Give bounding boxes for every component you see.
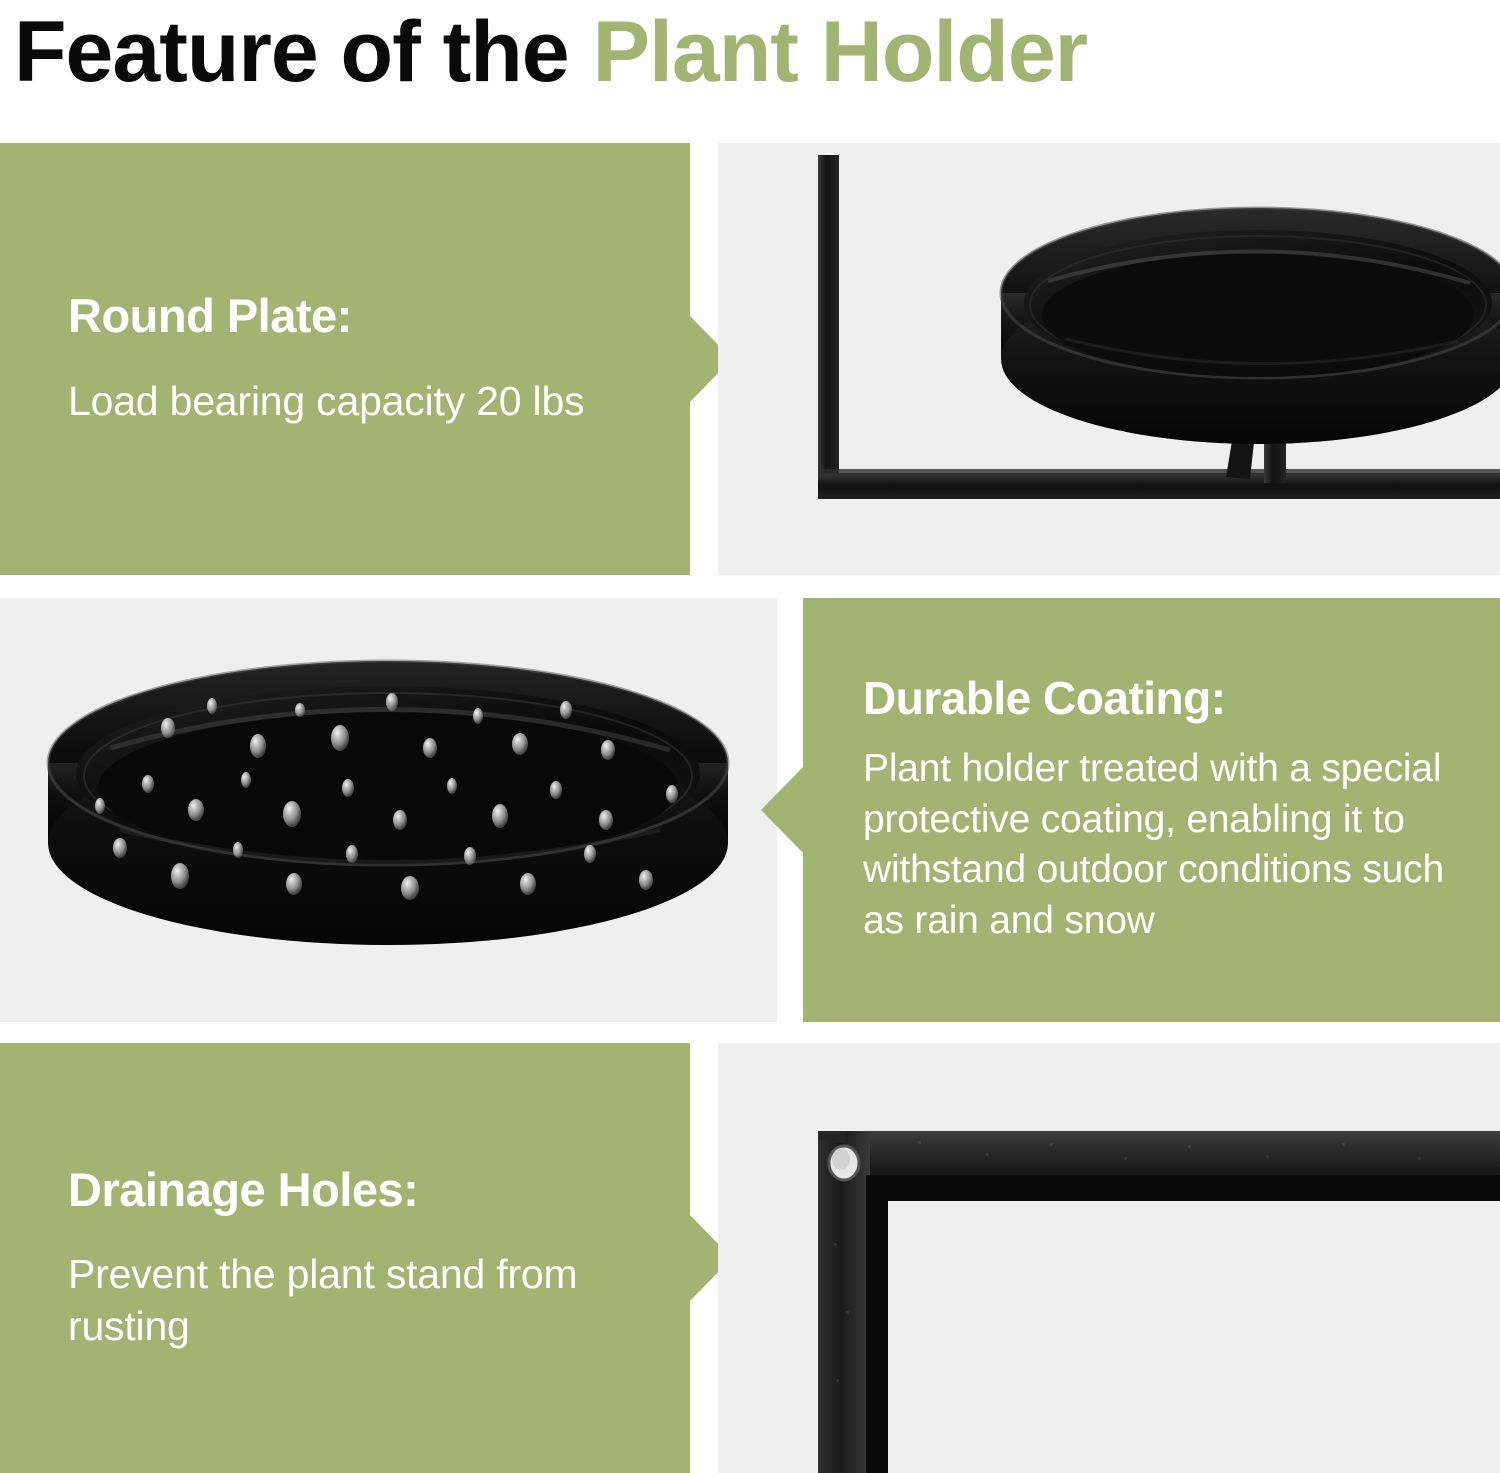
feature-row-round-plate: Round Plate: Load bearing capacity 20 lb… [0, 143, 1500, 575]
feature-body: Prevent the plant stand from rusting [68, 1249, 634, 1352]
feature-photo-durable-coating [0, 598, 777, 1022]
round-plate-on-frame-image [718, 143, 1500, 575]
feature-heading: Drainage Holes: [68, 1164, 634, 1216]
page-title-dark: Feature of the [14, 9, 569, 95]
feature-panel-drainage-holes: Drainage Holes: Prevent the plant stand … [0, 1043, 690, 1473]
feature-body: Plant holder treated with a special prot… [863, 744, 1456, 947]
product-photo [0, 598, 777, 1022]
frame-corner-drainage-hole-image [718, 1043, 1500, 1473]
feature-panel-round-plate: Round Plate: Load bearing capacity 20 lb… [0, 143, 690, 575]
feature-heading: Durable Coating: [863, 673, 1456, 724]
feature-photo-round-plate [718, 143, 1500, 575]
feature-infographic: Feature of the Plant Holder Round Plate:… [0, 0, 1500, 1473]
wet-round-tray-image [0, 598, 777, 1022]
callout-panel: Durable Coating: Plant holder treated wi… [803, 598, 1500, 1022]
arrow-left-icon [761, 766, 804, 854]
callout-panel: Round Plate: Load bearing capacity 20 lb… [0, 143, 690, 575]
feature-photo-drainage-holes [718, 1043, 1500, 1473]
feature-heading: Round Plate: [68, 290, 634, 342]
feature-panel-durable-coating: Durable Coating: Plant holder treated wi… [803, 598, 1500, 1022]
product-photo [718, 143, 1500, 575]
feature-row-durable-coating: Durable Coating: Plant holder treated wi… [0, 598, 1500, 1022]
feature-row-drainage-holes: Drainage Holes: Prevent the plant stand … [0, 1043, 1500, 1473]
page-title: Feature of the Plant Holder [14, 2, 1494, 102]
callout-panel: Drainage Holes: Prevent the plant stand … [0, 1043, 690, 1473]
product-photo [718, 1043, 1500, 1473]
feature-body: Load bearing capacity 20 lbs [68, 376, 634, 428]
page-title-accent: Plant Holder [593, 9, 1088, 95]
